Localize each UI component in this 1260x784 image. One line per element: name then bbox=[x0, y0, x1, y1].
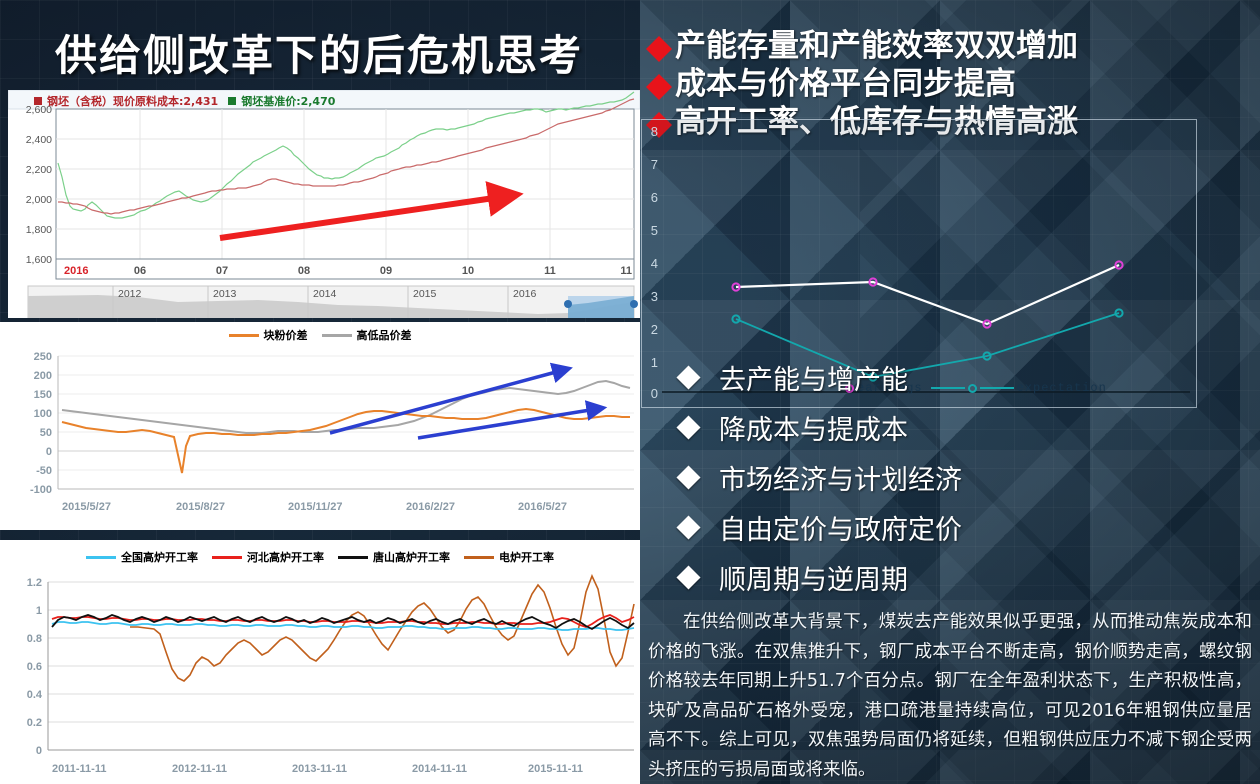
minimap-handle-left[interactable] bbox=[564, 300, 572, 308]
red-diamond-icon bbox=[646, 74, 672, 87]
series-grade-spread bbox=[62, 381, 630, 433]
legend-line-national bbox=[86, 556, 116, 559]
legend-swatch-base bbox=[228, 97, 236, 105]
minimap-tick-label: 2015 bbox=[413, 288, 437, 300]
blast-chart-canvas: 1.2 1 0.8 0.6 0.4 0.2 0 2011-11-11 2012-… bbox=[0, 574, 640, 784]
chart-minimap-scrollbar: 2012 2013 2014 2015 2016 bbox=[28, 286, 638, 318]
ore-spread-chart: 块粉价差 高低品价差 250 200 150 100 50 bbox=[0, 322, 640, 530]
list-item: 产能存量和产能效率双双增加 bbox=[646, 28, 1256, 65]
steel-chart-canvas: 2,600 2,400 2,200 2,000 1,800 1,600 2016… bbox=[8, 90, 640, 318]
legend-label-eaf: 电炉开工率 bbox=[499, 549, 554, 565]
white-bullet-label: 顺周期与逆周期 bbox=[719, 558, 908, 597]
y-tick-label: 4 bbox=[638, 256, 658, 271]
legend-line-hebei bbox=[212, 556, 242, 559]
minimap-tick-label: 2014 bbox=[313, 288, 337, 300]
y-tick-label: 8 bbox=[638, 124, 658, 139]
legend-label-hebei: 河北高炉开工率 bbox=[247, 549, 324, 565]
y-tick-label: -50 bbox=[36, 465, 52, 477]
white-bullet-label: 市场经济与计划经济 bbox=[719, 458, 962, 497]
minimap-handle-right[interactable] bbox=[630, 300, 638, 308]
white-diamond-icon bbox=[676, 415, 700, 439]
y-tick-label: 2 bbox=[638, 322, 658, 337]
x-tick-label: 06 bbox=[134, 265, 146, 277]
white-diamond-icon bbox=[676, 465, 700, 489]
y-tick-label: 250 bbox=[34, 351, 52, 363]
blast-chart-legend: 全国高炉开工率 河北高炉开工率 唐山高炉开工率 电炉开工率 bbox=[0, 540, 640, 574]
y-tick-label: 1,800 bbox=[26, 224, 52, 236]
legend-label-base: 钢坯基准价:2,470 bbox=[241, 93, 335, 109]
red-diamond-icon bbox=[646, 36, 672, 49]
legend-entry-base: 钢坯基准价:2,470 bbox=[228, 93, 335, 109]
white-bullet-label: 去产能与增产能 bbox=[719, 358, 908, 397]
y-tick-label: 0 bbox=[638, 386, 658, 401]
legend-line-lump bbox=[229, 334, 259, 337]
y-tick-label: 5 bbox=[638, 223, 658, 238]
x-tick-label: 08 bbox=[298, 265, 310, 277]
legend-entry-hebei: 河北高炉开工率 bbox=[212, 549, 324, 565]
blast-furnace-operating-rate-chart: 全国高炉开工率 河北高炉开工率 唐山高炉开工率 电炉开工率 bbox=[0, 540, 640, 784]
legend-entry-grade: 高低品价差 bbox=[322, 327, 412, 343]
red-bullet-label: 产能存量和产能效率双双增加 bbox=[675, 28, 1078, 65]
list-item: 市场经济与计划经济 bbox=[680, 452, 1240, 502]
x-tick-label: 2015/11/27 bbox=[288, 501, 342, 513]
red-bullet-label: 成本与价格平台同步提高 bbox=[675, 66, 1016, 103]
y-tick-label: 0 bbox=[46, 446, 52, 458]
y-tick-label: 50 bbox=[40, 427, 52, 439]
legend-entry-cost: 钢坯（含税）现价原料成本:2,431 bbox=[34, 93, 218, 109]
legend-label-grade: 高低品价差 bbox=[357, 327, 412, 343]
legend-line-eaf bbox=[464, 556, 494, 559]
page-title: 供给侧改革下的后危机思考 bbox=[55, 22, 583, 83]
x-tick-label: 2015/5/27 bbox=[62, 501, 111, 513]
x-tick-label: 2014-11-11 bbox=[412, 763, 467, 775]
y-tick-label: 7 bbox=[638, 157, 658, 172]
y-tick-label: 6 bbox=[638, 190, 658, 205]
y-tick-label: 1,600 bbox=[26, 254, 52, 266]
white-diamond-icon bbox=[676, 515, 700, 539]
legend-label-lump: 块粉价差 bbox=[264, 327, 308, 343]
steel-chart-legend: 钢坯（含税）现价原料成本:2,431 钢坯基准价:2,470 bbox=[34, 92, 335, 110]
spread-chart-canvas: 250 200 150 100 50 0 -50 -100 2015/5/27 … bbox=[0, 348, 640, 530]
y-tick-label: -100 bbox=[30, 484, 52, 496]
gridlines bbox=[48, 582, 634, 750]
list-item: 成本与价格平台同步提高 bbox=[646, 66, 1256, 103]
y-tick-label: 0 bbox=[36, 745, 42, 757]
legend-label-tangshan: 唐山高炉开工率 bbox=[373, 549, 450, 565]
x-tick-label: 2016 bbox=[64, 265, 88, 277]
y-tick-label: 1 bbox=[638, 355, 658, 370]
x-tick-label: 10 bbox=[462, 265, 474, 277]
legend-line-grade bbox=[322, 334, 352, 337]
x-tick-label: 2011-11-11 bbox=[52, 763, 106, 775]
x-tick-label: 11 bbox=[544, 265, 556, 277]
list-item: 降成本与提成本 bbox=[680, 402, 1240, 452]
white-bullet-label: 自由定价与政府定价 bbox=[719, 508, 962, 547]
list-item: 顺周期与逆周期 bbox=[680, 552, 1240, 602]
list-item: 去产能与增产能 bbox=[680, 352, 1240, 402]
x-tick-label: 2016/2/27 bbox=[406, 501, 455, 513]
spread-chart-legend: 块粉价差 高低品价差 bbox=[0, 322, 640, 348]
y-tick-label: 0.4 bbox=[27, 689, 43, 701]
y-tick-label: 2,000 bbox=[26, 194, 52, 206]
x-tick-label: 2016/5/27 bbox=[518, 501, 567, 513]
y-tick-label: 1.2 bbox=[27, 577, 42, 589]
legend-entry-eaf: 电炉开工率 bbox=[464, 549, 554, 565]
y-tick-label: 2,400 bbox=[26, 134, 52, 146]
legend-entry-tangshan: 唐山高炉开工率 bbox=[338, 549, 450, 565]
white-bullet-label: 降成本与提成本 bbox=[719, 408, 908, 447]
minimap-tick-label: 2013 bbox=[213, 288, 237, 300]
trend-arrow-blue-upper bbox=[330, 372, 556, 433]
x-tick-label: 07 bbox=[216, 265, 228, 277]
x-tick-label: 11 bbox=[620, 265, 632, 277]
legend-label-national: 全国高炉开工率 bbox=[121, 549, 198, 565]
y-tick-label: 0.8 bbox=[27, 633, 42, 645]
list-item: 自由定价与政府定价 bbox=[680, 502, 1240, 552]
minimap-tick-label: 2012 bbox=[118, 288, 142, 300]
legend-label-cost: 钢坯（含税）现价原料成本:2,431 bbox=[47, 93, 218, 109]
summary-paragraph: 在供给侧改革大背景下，煤炭去产能效果似乎更强，从而推动焦炭成本和价格的飞涨。在双… bbox=[648, 608, 1252, 784]
x-tick-label: 2013-11-11 bbox=[292, 763, 347, 775]
legend-entry-national: 全国高炉开工率 bbox=[86, 549, 198, 565]
y-tick-label: 3 bbox=[638, 289, 658, 304]
y-tick-label: 150 bbox=[34, 389, 52, 401]
x-tick-label: 09 bbox=[380, 265, 392, 277]
y-tick-label: 2,200 bbox=[26, 164, 52, 176]
white-diamond-icon bbox=[676, 565, 700, 589]
minimap-tick-label: 2016 bbox=[513, 288, 537, 300]
y-tick-label: 100 bbox=[34, 408, 52, 420]
x-tick-label: 2015-11-11 bbox=[528, 763, 583, 775]
x-tick-label: 2012-11-11 bbox=[172, 763, 227, 775]
legend-entry-lump: 块粉价差 bbox=[229, 327, 308, 343]
legend-swatch-cost bbox=[34, 97, 42, 105]
y-tick-label: 0.6 bbox=[27, 661, 42, 673]
x-tick-label: 2015/8/27 bbox=[176, 501, 225, 513]
white-diamond-icon bbox=[676, 365, 700, 389]
y-tick-label: 0.2 bbox=[27, 717, 42, 729]
slide-root: 供给侧改革下的后危机思考 产能存量和产能效率双双增加 成本与价格平台同步提高 高… bbox=[0, 0, 1260, 784]
series-earnings bbox=[736, 265, 1119, 324]
y-tick-label: 1 bbox=[36, 605, 42, 617]
y-tick-label: 200 bbox=[34, 370, 52, 382]
white-bullet-list: 去产能与增产能 降成本与提成本 市场经济与计划经济 自由定价与政府定价 顺周期与… bbox=[680, 352, 1240, 602]
steel-billet-chart: 钢坯（含税）现价原料成本:2,431 钢坯基准价:2,470 bbox=[8, 90, 640, 318]
legend-line-tangshan bbox=[338, 556, 368, 559]
